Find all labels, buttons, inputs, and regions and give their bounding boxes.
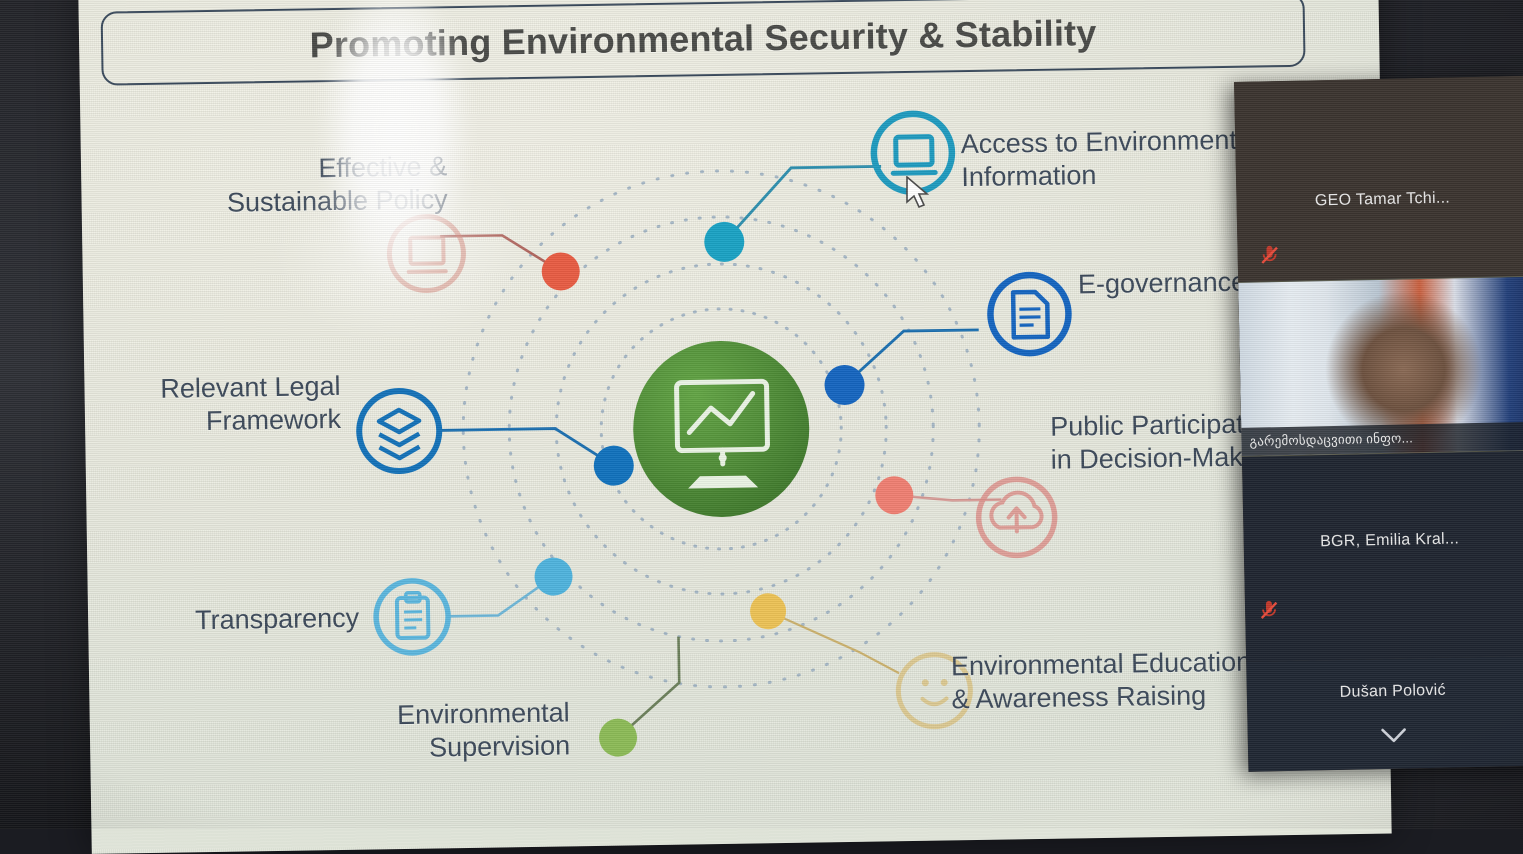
participant-name: გარემოსდაცვითი ინფო... [1241, 422, 1523, 456]
label-transparency: Transparency [94, 602, 359, 639]
label-line: Environmental [269, 696, 569, 734]
node-dot-transparency [534, 557, 573, 596]
projected-slide: Promoting Environmental Security & Stabi… [78, 0, 1392, 854]
label-line: Transparency [94, 602, 359, 639]
node-dot-legal-framework [593, 445, 634, 486]
label-line: Relevant Legal [90, 370, 340, 407]
participant-tile[interactable]: GEO Tamar Tchi... [1234, 76, 1523, 282]
chevron-down-icon[interactable] [1248, 722, 1523, 750]
node-dot-environmental-education [750, 593, 787, 630]
monitor-icon-effective-policy [389, 216, 464, 291]
label-effective-sustainable-policy: Effective & Sustainable Policy [87, 150, 448, 222]
participant-tile[interactable]: BGR, Emilia Kral... [1242, 451, 1523, 662]
clipboard-icon-transparency [376, 580, 449, 653]
label-line: Sustainable Policy [87, 183, 447, 222]
participant-name: GEO Tamar Tchi... [1236, 188, 1523, 212]
layers-icon-legal-framework [359, 390, 440, 471]
participant-name: Dušan Polović [1247, 680, 1523, 704]
document-icon-e-governance [990, 274, 1069, 353]
participant-name: BGR, Emilia Kral... [1243, 529, 1523, 553]
participant-tile-active-speaker[interactable]: გარემოსდაცვითი ინფო... [1238, 276, 1523, 457]
label-line: Framework [91, 403, 341, 440]
node-dot-public-participation [875, 476, 914, 515]
label-line: Supervision [270, 729, 570, 767]
participant-tile[interactable]: Dušan Polović [1246, 656, 1523, 772]
label-environmental-supervision: Environmental Supervision [269, 696, 570, 767]
monitor-icon-access-information [873, 113, 952, 192]
video-conference-panel[interactable]: GEO Tamar Tchi... გარემოსდაცვითი ინფო...… [1234, 76, 1523, 772]
label-relevant-legal-framework: Relevant Legal Framework [90, 370, 341, 440]
node-dot-effective-policy [541, 252, 580, 291]
cloud-upload-icon-public-participation [978, 479, 1055, 556]
microphone-muted-icon [1259, 245, 1279, 265]
label-line: Effective & [87, 150, 447, 189]
microphone-muted-icon [1259, 600, 1279, 620]
